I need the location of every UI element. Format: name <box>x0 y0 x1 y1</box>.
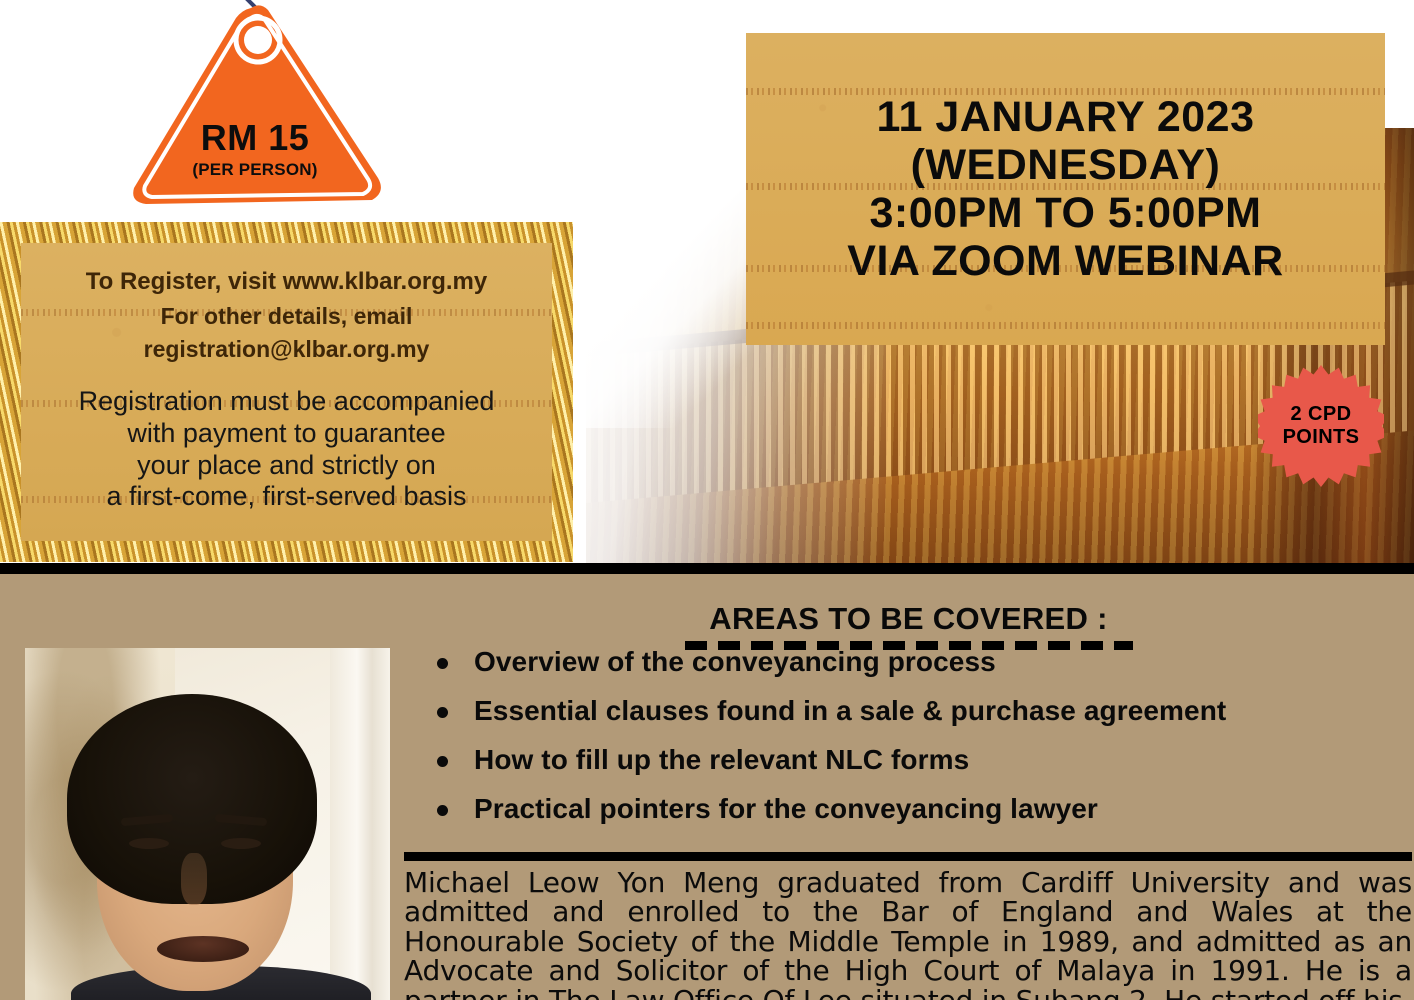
cpd-points-badge: 2 CPD POINTS <box>1258 363 1384 489</box>
price-tag-icon <box>110 0 400 232</box>
event-date-lines: 11 JANUARY 2023 (WEDNESDAY) 3:00PM TO 5:… <box>847 93 1283 286</box>
event-time: 3:00PM TO 5:00PM <box>847 189 1283 237</box>
registration-email: registration@klbar.org.my <box>43 333 530 366</box>
price-tag-text: RM 15 (PER PERSON) <box>110 120 400 180</box>
details-section: AREAS TO BE COVERED : Overview of the co… <box>0 574 1414 1000</box>
registration-email-label: For other details, email <box>43 300 530 333</box>
registration-note-line-4: a first-come, first-served basis <box>21 481 552 513</box>
price-amount: RM 15 <box>110 120 400 156</box>
decorative-band <box>746 322 1385 329</box>
registration-inner-panel: To Register, visit www.klbar.org.my For … <box>21 243 552 541</box>
portrait-nose <box>181 853 207 905</box>
registration-note: Registration must be accompanied with pa… <box>21 386 552 512</box>
hero-section: 11 JANUARY 2023 (WEDNESDAY) 3:00PM TO 5:… <box>0 0 1414 567</box>
price-per-person: (PER PERSON) <box>110 160 400 180</box>
areas-heading: AREAS TO BE COVERED : <box>709 601 1107 637</box>
areas-list: Overview of the conveyancing process Ess… <box>437 648 1397 844</box>
portrait-mouth <box>157 936 249 962</box>
list-item: How to fill up the relevant NLC forms <box>437 746 1397 774</box>
event-date: 11 JANUARY 2023 <box>847 93 1283 141</box>
section-divider <box>0 563 1414 574</box>
areas-heading-block: AREAS TO BE COVERED : <box>403 601 1414 650</box>
portrait-background-right <box>330 648 390 1000</box>
cpd-badge-text: 2 CPD POINTS <box>1283 403 1360 449</box>
registration-contact: To Register, visit www.klbar.org.my For … <box>21 243 552 366</box>
event-day: (WEDNESDAY) <box>847 141 1283 189</box>
list-item: Essential clauses found in a sale & purc… <box>437 697 1397 725</box>
tag-hole <box>244 26 272 54</box>
portrait-eye-right <box>221 838 261 849</box>
price-tag: RM 15 (PER PERSON) <box>110 0 400 232</box>
registration-box: To Register, visit www.klbar.org.my For … <box>0 222 573 562</box>
cpd-line-1: 2 CPD <box>1283 403 1360 426</box>
registration-note-line-3: your place and strictly on <box>21 450 552 482</box>
speaker-bio: Michael Leow Yon Meng graduated from Car… <box>404 868 1412 1000</box>
event-platform: VIA ZOOM WEBINAR <box>847 237 1283 285</box>
list-item: Overview of the conveyancing process <box>437 648 1397 676</box>
portrait-eye-left <box>129 838 169 849</box>
registration-website-line: To Register, visit www.klbar.org.my <box>43 265 530 300</box>
registration-note-line-2: with payment to guarantee <box>21 418 552 450</box>
registration-note-line-1: Registration must be accompanied <box>21 386 552 418</box>
bio-divider <box>404 852 1412 861</box>
cpd-line-2: POINTS <box>1283 426 1360 449</box>
list-item: Practical pointers for the conveyancing … <box>437 795 1397 823</box>
event-poster: 11 JANUARY 2023 (WEDNESDAY) 3:00PM TO 5:… <box>0 0 1414 1000</box>
event-date-panel: 11 JANUARY 2023 (WEDNESDAY) 3:00PM TO 5:… <box>746 33 1385 345</box>
speaker-portrait <box>25 648 390 1000</box>
